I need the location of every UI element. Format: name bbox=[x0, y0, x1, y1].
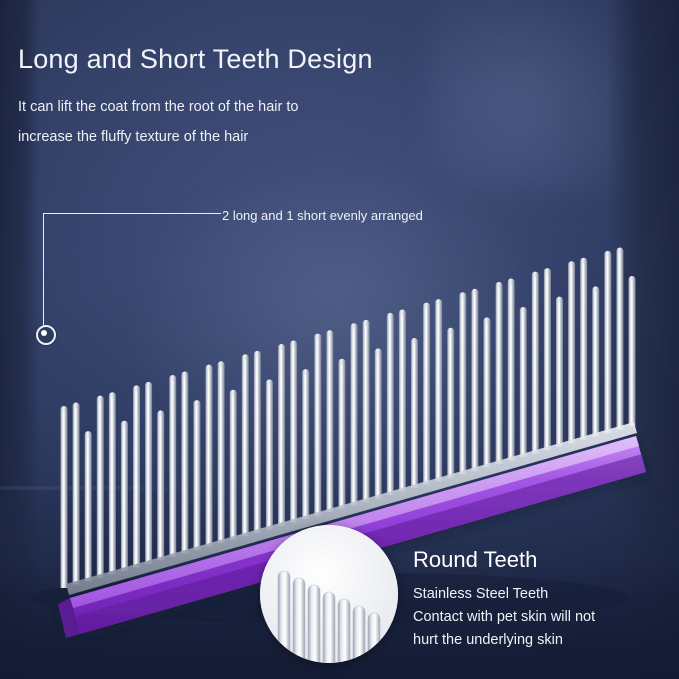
callout-leader-horizontal bbox=[43, 213, 221, 214]
comb-tooth-highlight bbox=[353, 329, 355, 501]
magnified-tooth bbox=[293, 578, 305, 658]
comb-tooth-highlight bbox=[99, 402, 101, 574]
comb-tooth-highlight bbox=[244, 360, 246, 532]
comb-tooth-highlight bbox=[631, 282, 633, 422]
subtitle-line-2: increase the fluffy texture of the hair bbox=[18, 122, 298, 152]
magnified-tooth bbox=[323, 592, 335, 663]
magnified-tooth bbox=[338, 599, 350, 663]
comb-tooth-highlight bbox=[232, 396, 234, 536]
magnified-tooth bbox=[308, 585, 320, 663]
comb-tooth-highlight bbox=[87, 437, 89, 577]
comb-tooth-highlight bbox=[522, 313, 524, 453]
comb-tooth-highlight bbox=[75, 409, 77, 581]
round-teeth-title: Round Teeth bbox=[413, 547, 537, 573]
comb-tooth-highlight bbox=[607, 257, 609, 429]
comb-tooth-highlight bbox=[595, 292, 597, 432]
comb-tooth-highlight bbox=[280, 350, 282, 522]
comb-tooth-highlight bbox=[546, 274, 548, 446]
comb-tooth-highlight bbox=[534, 278, 536, 450]
comb-tooth-highlight bbox=[196, 406, 198, 546]
comb-tooth-highlight bbox=[462, 298, 464, 470]
comb-tooth-highlight bbox=[220, 367, 222, 539]
page-subtitle: It can lift the coat from the root of th… bbox=[18, 92, 298, 152]
comb-tooth-highlight bbox=[377, 354, 379, 494]
comb-tooth-highlight bbox=[365, 326, 367, 498]
comb-tooth-highlight bbox=[425, 309, 427, 481]
round-teeth-line-1: Stainless Steel Teeth bbox=[413, 583, 595, 606]
comb-tooth-highlight bbox=[413, 344, 415, 484]
magnified-tooth bbox=[353, 606, 365, 663]
comb-tooth-highlight bbox=[160, 416, 162, 556]
comb-tooth-highlight bbox=[184, 378, 186, 550]
comb-tooth-highlight bbox=[583, 264, 585, 436]
comb-tooth-highlight bbox=[474, 295, 476, 467]
comb-tooth-highlight bbox=[305, 375, 307, 515]
comb-tooth-highlight bbox=[256, 357, 258, 529]
comb-tooth-highlight bbox=[208, 371, 210, 543]
comb-tooth-highlight bbox=[619, 253, 621, 425]
comb-tooth-highlight bbox=[510, 284, 512, 456]
comb-tooth-highlight bbox=[498, 288, 500, 460]
comb-tooth-highlight bbox=[172, 381, 174, 553]
comb-tooth-highlight bbox=[389, 319, 391, 491]
round-teeth-magnifier bbox=[260, 525, 398, 663]
callout-leader-vertical bbox=[43, 213, 44, 333]
comb-tooth-highlight bbox=[293, 347, 295, 519]
comb-tooth-highlight bbox=[438, 305, 440, 477]
product-infographic: Long and Short Teeth Design It can lift … bbox=[0, 0, 679, 679]
page-title: Long and Short Teeth Design bbox=[18, 44, 373, 75]
subtitle-line-1: It can lift the coat from the root of th… bbox=[18, 92, 298, 122]
comb-tooth-highlight bbox=[401, 315, 403, 487]
round-teeth-line-2: Contact with pet skin will not bbox=[413, 606, 595, 629]
callout-label: 2 long and 1 short evenly arranged bbox=[222, 208, 423, 223]
callout-dot-icon bbox=[36, 325, 56, 345]
comb-tooth-highlight bbox=[268, 385, 270, 525]
comb-tooth-highlight bbox=[111, 398, 113, 570]
comb-tooth-highlight bbox=[135, 391, 137, 563]
callout-leader-line bbox=[40, 213, 220, 348]
comb-tooth-highlight bbox=[341, 365, 343, 505]
magnified-tooth bbox=[368, 613, 380, 663]
comb-tooth-highlight bbox=[147, 388, 149, 560]
comb-tooth-highlight bbox=[450, 334, 452, 474]
round-teeth-description: Stainless Steel Teeth Contact with pet s… bbox=[413, 583, 595, 652]
magnified-tooth bbox=[278, 571, 290, 651]
comb-tooth-highlight bbox=[329, 336, 331, 508]
comb-tooth-highlight bbox=[317, 340, 319, 512]
comb-tooth-highlight bbox=[123, 427, 125, 567]
comb-tooth-highlight bbox=[63, 412, 65, 584]
round-teeth-line-3: hurt the underlying skin bbox=[413, 629, 595, 652]
magnified-teeth bbox=[260, 525, 398, 663]
comb-tooth-highlight bbox=[486, 323, 488, 463]
comb-tooth-highlight bbox=[558, 303, 560, 443]
comb-tooth-highlight bbox=[570, 267, 572, 439]
